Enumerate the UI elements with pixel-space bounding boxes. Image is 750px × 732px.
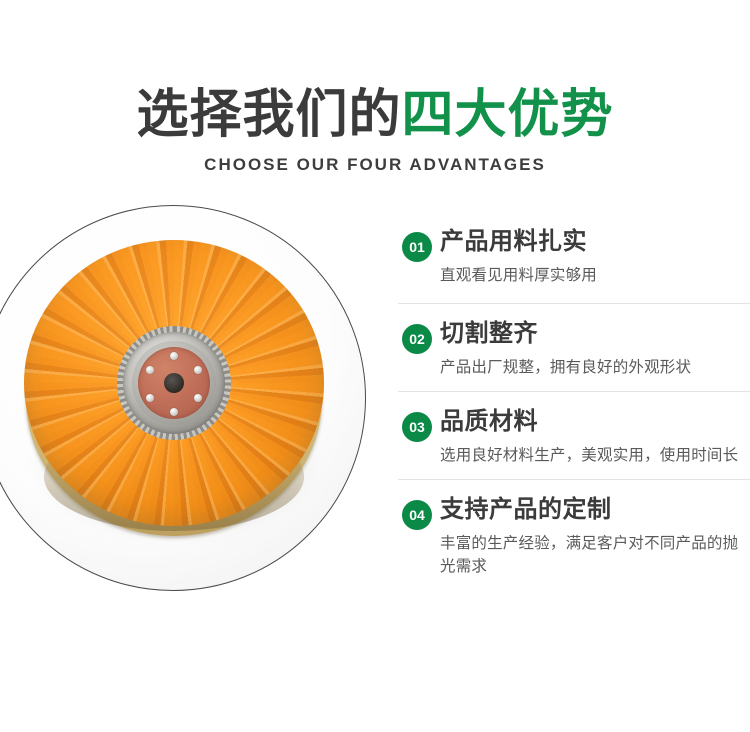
page-subtitle: CHOOSE OUR FOUR ADVANTAGES: [0, 155, 750, 175]
hub-bolt: [146, 366, 154, 374]
advantage-title: 产品用料扎实: [440, 228, 750, 257]
advantage-title: 切割整齐: [440, 320, 750, 349]
hub-bolt: [170, 408, 178, 416]
advantage-description: 产品出厂规整，拥有良好的外观形状: [440, 356, 750, 379]
advantage-title: 品质材料: [440, 408, 750, 437]
advantage-number-badge: 04: [402, 500, 432, 530]
advantage-description: 选用良好材料生产，美观实用，使用时间长: [440, 444, 750, 467]
advantage-number-badge: 03: [402, 412, 432, 442]
advantage-number-badge: 01: [402, 232, 432, 262]
page-title: 选择我们的四大优势: [0, 88, 750, 143]
advantage-item-03: 03 品质材料 选用良好材料生产，美观实用，使用时间长: [398, 391, 750, 479]
advantage-description: 直观看见用料厚实够用: [440, 264, 750, 287]
advantage-item-01: 01 产品用料扎实 直观看见用料厚实够用: [398, 228, 750, 303]
page-title-dark-part: 选择我们的: [136, 86, 401, 144]
advantage-description: 丰富的生产经验，满足客户对不同产品的抛光需求: [440, 532, 750, 579]
product-photo: [0, 205, 380, 605]
hub-bolt: [146, 394, 154, 402]
hub-bolt: [170, 352, 178, 360]
hub-bolt: [194, 366, 202, 374]
advantage-title: 支持产品的定制: [440, 496, 750, 525]
page-header: 选择我们的四大优势 CHOOSE OUR FOUR ADVANTAGES: [0, 88, 750, 175]
hub-bolt: [194, 394, 202, 402]
infographic-page: 选择我们的四大优势 CHOOSE OUR FOUR ADVANTAGES: [0, 0, 750, 732]
advantage-number-badge: 02: [402, 324, 432, 354]
page-title-accent-part: 四大优势: [402, 86, 614, 144]
hub-center-bore: [164, 373, 184, 393]
advantage-list: 01 产品用料扎实 直观看见用料厚实够用 02 切割整齐 产品出厂规整，拥有良好…: [398, 228, 750, 588]
buffing-wheel: [24, 240, 324, 540]
advantage-item-02: 02 切割整齐 产品出厂规整，拥有良好的外观形状: [398, 303, 750, 391]
advantage-item-04: 04 支持产品的定制 丰富的生产经验，满足客户对不同产品的抛光需求: [398, 479, 750, 588]
